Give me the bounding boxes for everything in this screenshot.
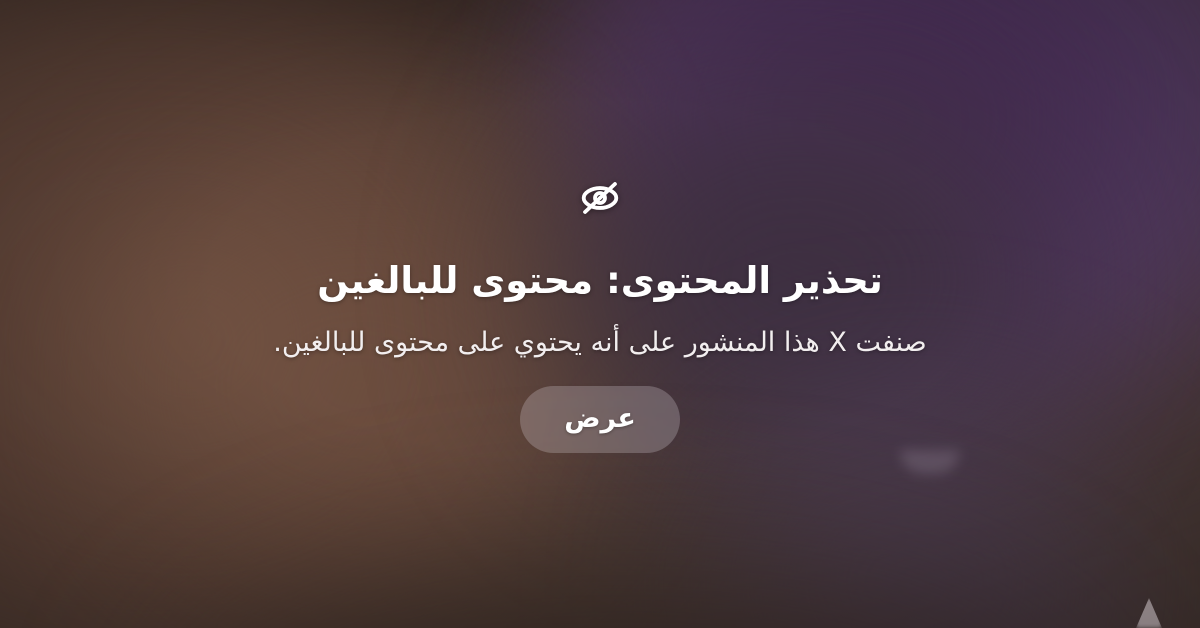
content-warning-screen: تحذير المحتوى: محتوى للبالغين صنفت X هذا… <box>0 0 1200 628</box>
content-warning-description: صنفت X هذا المنشور على أنه يحتوي على محت… <box>273 325 926 361</box>
view-content-button[interactable]: عرض <box>520 386 680 453</box>
content-warning-title: تحذير المحتوى: محتوى للبالغين <box>317 259 883 303</box>
eye-off-icon <box>577 175 623 221</box>
content-warning-panel: تحذير المحتوى: محتوى للبالغين صنفت X هذا… <box>0 0 1200 628</box>
